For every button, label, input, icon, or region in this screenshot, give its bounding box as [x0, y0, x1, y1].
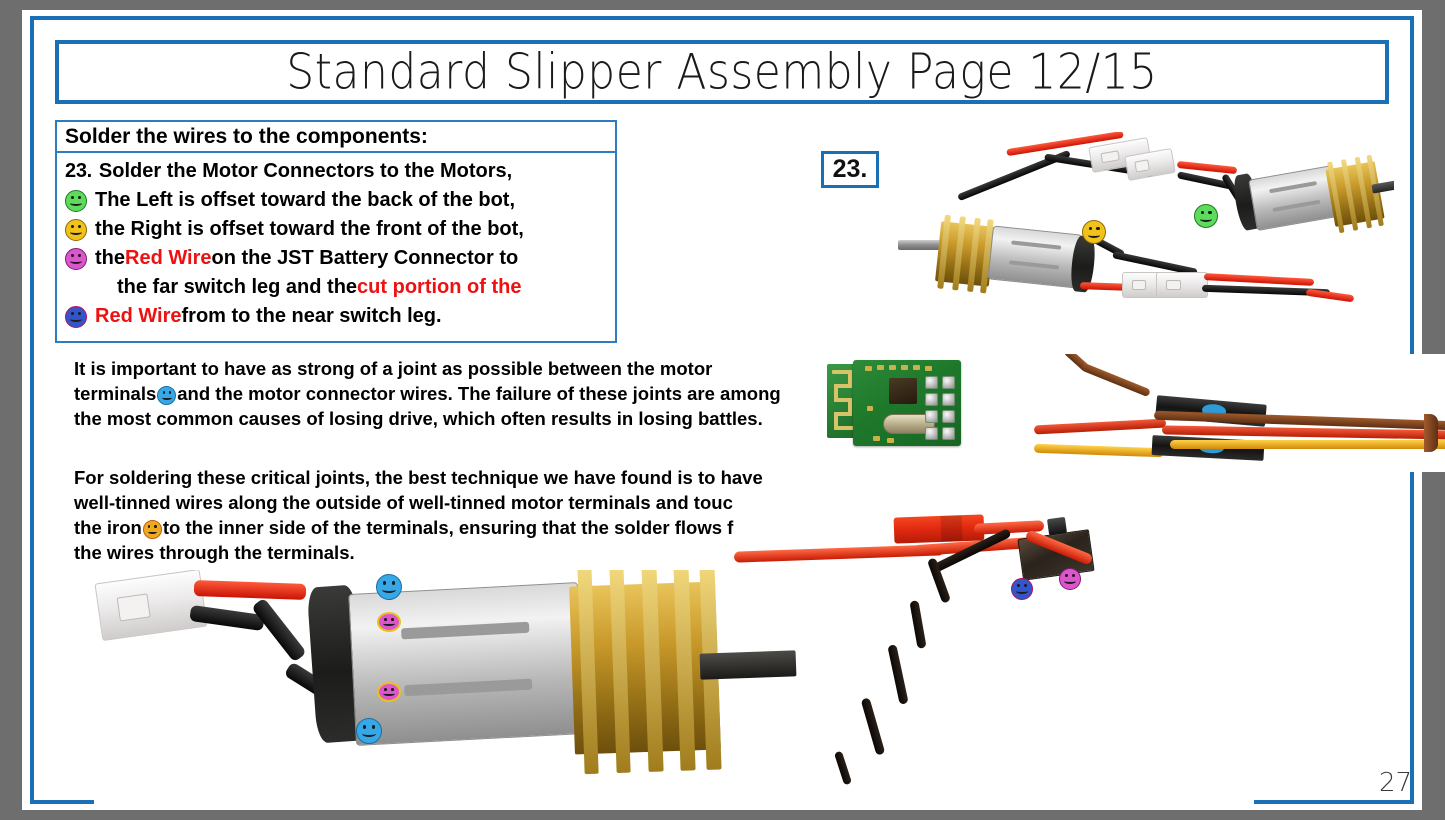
gearbox	[1325, 161, 1384, 227]
brown-wire	[1081, 363, 1151, 397]
smiley-magenta-icon	[377, 682, 401, 702]
smiley-orange-icon	[143, 520, 162, 539]
output-shaft	[898, 240, 944, 250]
pcb-body	[853, 360, 961, 446]
callout-label: 23.	[833, 155, 868, 184]
paragraph1-part2: and the motor connector wires. The failu…	[74, 383, 781, 429]
bullet-right-offset: the Right is offset toward the front of …	[65, 215, 609, 244]
black-wire	[909, 600, 926, 649]
near-switch-leg-text: from to the near switch leg.	[182, 302, 442, 331]
red-wire	[1034, 419, 1166, 435]
smiley-magenta-icon	[65, 248, 87, 270]
step-title-line: 23. Solder the Motor Connectors to the M…	[65, 157, 609, 186]
step-title-text: Solder the Motor Connectors to the Motor…	[99, 157, 512, 186]
instruction-body-box: 23. Solder the Motor Connectors to the M…	[55, 153, 617, 343]
page-blue-border: Standard Slipper Assembly Page 12/15 Sol…	[30, 16, 1414, 804]
gearbox	[569, 582, 721, 755]
page-title: Standard Slipper Assembly Page 12/15	[286, 43, 1157, 100]
photo-two-gearmotors	[894, 132, 1394, 347]
instruction-header-box: Solder the wires to the components:	[55, 120, 617, 153]
smiley-green-icon	[65, 190, 87, 212]
orange-wire	[1170, 440, 1445, 449]
smiley-yellow-icon	[1082, 220, 1106, 244]
motor-can	[348, 582, 586, 746]
step-number: 23.	[65, 157, 92, 186]
photo-receiver-pcb	[827, 354, 967, 459]
orange-wire	[1034, 444, 1164, 458]
far-switch-leg-text: the far switch leg and the	[117, 273, 357, 302]
instruction-header-text: Solder the wires to the components:	[57, 125, 428, 149]
wire-bend	[1424, 414, 1438, 452]
red-wire-label-2: Red Wire	[95, 302, 182, 331]
photo-servo-wire-harness	[1034, 354, 1445, 472]
cut-portion-label: cut portion of the	[357, 273, 521, 302]
bullet-left-offset: The Left is offset toward the back of th…	[65, 186, 609, 215]
smiley-cyan-icon	[376, 574, 402, 600]
jst-connector-white	[94, 570, 207, 641]
red-wire	[194, 580, 306, 600]
red-wire	[1204, 273, 1314, 286]
smiley-blue-icon	[65, 306, 87, 328]
smiley-magenta-icon	[377, 612, 401, 632]
smiley-cyan-icon	[157, 386, 176, 405]
smiley-blue-icon	[1011, 578, 1033, 600]
red-wire-label-1: Red Wire	[125, 244, 212, 273]
bullet-left-text: The Left is offset toward the back of th…	[95, 186, 515, 215]
smiley-cyan-icon	[356, 718, 382, 744]
red-wire	[1306, 289, 1355, 303]
pcb-microchip	[889, 378, 917, 404]
bullet-near-switch-leg: Red Wire from to the near switch leg.	[65, 302, 609, 331]
title-box: Standard Slipper Assembly Page 12/15	[55, 40, 1389, 104]
paragraph2-part2: to the inner side of the terminals, ensu…	[74, 517, 768, 563]
bullet-far-switch-leg: the far switch leg and the cut portion o…	[65, 273, 609, 302]
bullet-red-wire-jst: the Red Wire on the JST Battery Connecto…	[65, 244, 609, 273]
paragraph-soldering-technique: For soldering these critical joints, the…	[74, 465, 794, 565]
black-wire	[834, 751, 852, 786]
motor-can	[987, 225, 1082, 288]
smiley-green-icon	[1194, 204, 1218, 228]
gearbox	[935, 221, 995, 286]
jst-battery-connector-red	[894, 514, 985, 543]
red-wire	[734, 544, 944, 562]
jst-connector-white	[1156, 272, 1208, 298]
bullet-right-text: the Right is offset toward the front of …	[95, 215, 524, 244]
paragraph-joint-strength: It is important to have as strong of a j…	[74, 356, 794, 431]
smiley-yellow-icon	[65, 219, 87, 241]
black-wire	[887, 644, 908, 705]
photo-motor-terminal-closeup	[94, 570, 824, 810]
page-number: 27	[1379, 768, 1412, 798]
switch-knob	[1047, 517, 1067, 535]
bullet-red-jst-pre: the	[95, 244, 125, 273]
black-wire	[861, 697, 886, 755]
output-shaft	[700, 650, 797, 679]
callout-step-23: 23.	[821, 151, 879, 188]
slide-page: Standard Slipper Assembly Page 12/15 Sol…	[22, 10, 1422, 810]
smiley-magenta-icon	[1059, 568, 1081, 590]
bullet-red-jst-mid: on the JST Battery Connector to	[212, 244, 519, 273]
